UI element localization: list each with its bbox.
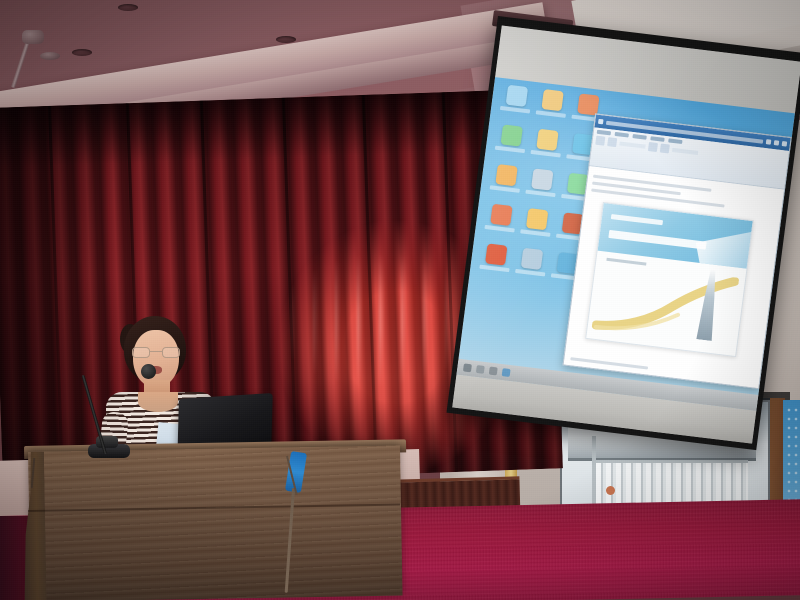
recessed-light-icon [276, 36, 296, 43]
desktop-icon-label [536, 110, 566, 118]
presentation-slide[interactable] [585, 202, 754, 357]
desktop-icon-label [525, 190, 555, 198]
browser-icon[interactable] [502, 368, 511, 377]
recessed-light-icon [118, 4, 138, 11]
glasses-lens-right [162, 347, 180, 358]
desktop-icon[interactable] [499, 84, 533, 121]
maximize-icon[interactable] [774, 140, 780, 146]
desktop-icon[interactable] [524, 168, 558, 205]
minimize-icon[interactable] [766, 139, 772, 145]
desktop-icon-label [484, 225, 514, 233]
projected-desktop [456, 77, 794, 411]
desktop-icon[interactable] [514, 247, 548, 284]
office-document-window[interactable] [563, 113, 792, 389]
podium-wood-grain [28, 446, 403, 600]
close-icon[interactable] [782, 141, 788, 147]
desktop-icon-glyph [531, 168, 553, 190]
ribbon-tool-icon[interactable] [595, 136, 605, 146]
document-canvas[interactable] [563, 166, 784, 389]
desktop-icon-glyph [577, 93, 599, 115]
projection-screen[interactable] [446, 16, 800, 450]
desktop-icon-glyph [521, 248, 543, 270]
glasses-lens-left [132, 347, 150, 358]
radiator-valve-icon[interactable] [606, 486, 615, 495]
ribbon-tool-field[interactable] [672, 147, 698, 154]
desktop-icon-label [479, 265, 509, 273]
ribbon-tab[interactable] [650, 136, 664, 142]
desktop-icon[interactable] [478, 243, 512, 280]
ribbon-tab[interactable] [632, 134, 646, 140]
desktop-icon[interactable] [519, 207, 553, 244]
document-line [570, 357, 648, 369]
collar-neckline [138, 392, 178, 412]
window-app-icon [598, 119, 604, 125]
projection-surface [452, 26, 800, 444]
desktop-icon-glyph [541, 89, 563, 111]
microphone-head-icon [141, 364, 156, 379]
slide-title-text [608, 230, 706, 250]
desktop-icon[interactable] [489, 163, 523, 200]
ribbon-tool-icon[interactable] [660, 143, 670, 153]
slide-curve-graphic [591, 261, 739, 347]
desktop-icon-label [531, 150, 561, 158]
folder-icon[interactable] [476, 365, 485, 374]
start-icon[interactable] [463, 363, 472, 372]
podium [28, 446, 403, 600]
media-icon[interactable] [489, 367, 498, 376]
glasses-icon [132, 347, 180, 358]
desktop-icon[interactable] [483, 203, 517, 240]
glasses-bridge [150, 351, 162, 352]
desktop-icon-glyph [490, 204, 512, 226]
ribbon-tool-icon[interactable] [648, 142, 658, 152]
desktop-icon-glyph [501, 124, 523, 146]
desktop-icon-label [490, 185, 520, 193]
recessed-light-icon [72, 49, 92, 56]
desktop-icon-glyph [506, 85, 528, 107]
desktop-icon[interactable] [494, 124, 528, 161]
ribbon-tab[interactable] [597, 130, 611, 136]
presentation-hall-photo [0, 0, 800, 600]
desktop-icon-label [515, 269, 545, 277]
ribbon-tool-icon[interactable] [607, 137, 617, 147]
pendant-head-icon [22, 30, 44, 44]
ribbon-tab[interactable] [668, 138, 682, 144]
desktop-icon[interactable] [535, 88, 569, 125]
desktop-icon-label [495, 146, 525, 154]
desktop-icon-glyph [526, 208, 548, 230]
pendant-mid-icon [40, 52, 60, 60]
desktop-icon-label [500, 106, 530, 114]
desktop-icon[interactable] [529, 128, 563, 165]
slide-curve-svg [591, 261, 739, 347]
slide-subtitle-text [611, 214, 663, 225]
desktop-icon-glyph [485, 243, 507, 265]
desktop-icon-label [520, 229, 550, 237]
ribbon-tool-field[interactable] [619, 141, 645, 148]
desktop-icon-glyph [536, 129, 558, 151]
ribbon-tab[interactable] [615, 132, 629, 138]
desktop-icon-glyph [495, 164, 517, 186]
